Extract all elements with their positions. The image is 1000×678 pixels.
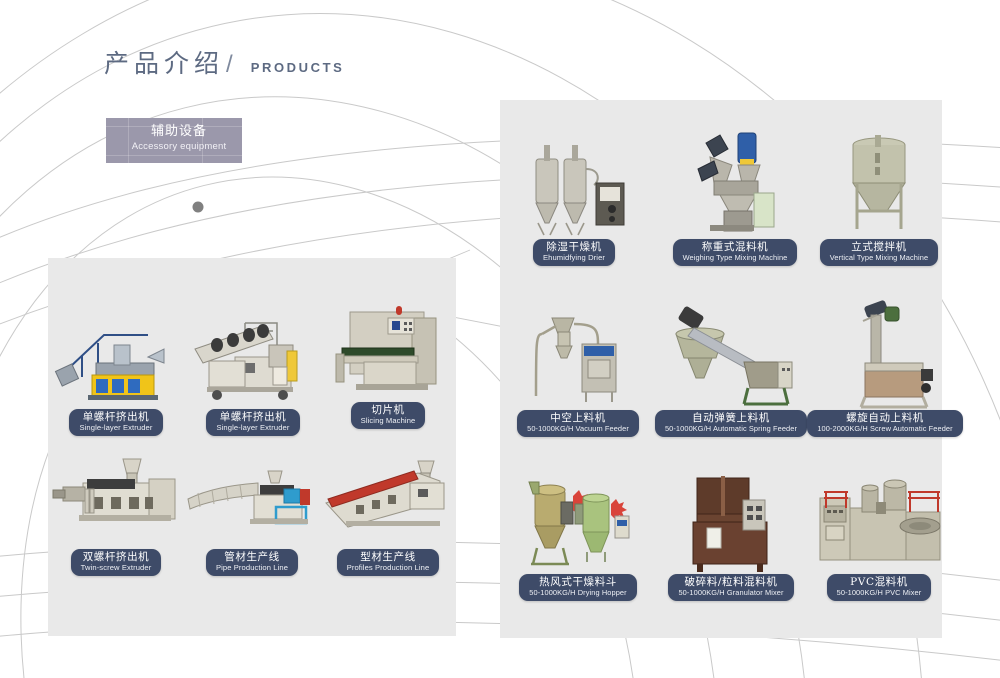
vacuum-feeder-photo bbox=[504, 300, 652, 410]
product-name-en: Profiles Production Line bbox=[347, 564, 430, 572]
product-badge[interactable]: 自动弹簧上料机 50-1000KG/H Automatic Spring Fee… bbox=[655, 410, 807, 437]
product-card-single-layer-extruder-2[interactable]: 单螺杆挤出机 Single-layer Extruder bbox=[185, 305, 321, 436]
page-title-cn: 产品介绍 bbox=[104, 44, 224, 80]
product-badge[interactable]: 型材生产线 Profiles Production Line bbox=[337, 549, 440, 576]
product-badge[interactable]: 单螺杆挤出机 Single-layer Extruder bbox=[69, 409, 162, 436]
product-name-en: 100-2000KG/H Screw Automatic Feeder bbox=[817, 425, 952, 433]
page-title-separator: / bbox=[226, 51, 233, 79]
product-badge[interactable]: 热风式干燥料斗 50-1000KG/H Drying Hopper bbox=[519, 574, 636, 601]
product-name-en: Single-layer Extruder bbox=[79, 424, 152, 432]
product-name-en: Single-layer Extruder bbox=[216, 424, 289, 432]
product-card-pvc-mixer[interactable]: PVC混料机 50-1000KG/H PVC Mixer bbox=[805, 468, 953, 601]
page-title-en: PRODUCTS bbox=[251, 60, 345, 75]
product-badge[interactable]: 除湿干燥机 Ehumidfying Drier bbox=[533, 239, 615, 266]
product-name-en: Vertical Type Mixing Machine bbox=[830, 254, 928, 262]
product-card-slicing-machine[interactable]: 切片机 Slicing Machine bbox=[320, 298, 456, 429]
product-name-en: 50-1000KG/H PVC Mixer bbox=[837, 589, 922, 597]
screw-automatic-feeder-photo bbox=[797, 295, 973, 410]
product-name-en: 50-1000KG/H Granulator Mixer bbox=[678, 589, 783, 597]
product-card-screw-automatic-feeder[interactable]: 螺旋自动上料机 100-2000KG/H Screw Automatic Fee… bbox=[797, 295, 973, 437]
product-badge[interactable]: 管材生产线 Pipe Production Line bbox=[206, 549, 298, 576]
product-name-en: Ehumidfying Drier bbox=[543, 254, 605, 262]
automatic-spring-feeder-photo bbox=[645, 300, 817, 410]
category-label: 辅助设备 Accessory equipment bbox=[123, 123, 235, 154]
product-card-profiles-production-line[interactable]: 型材生产线 Profiles Production Line bbox=[320, 445, 456, 576]
product-card-vacuum-feeder[interactable]: 中空上料机 50-1000KG/H Vacuum Feeder bbox=[504, 300, 652, 437]
category-badge-accessory-equipment[interactable]: 辅助设备 Accessory equipment bbox=[106, 118, 242, 163]
product-badge[interactable]: PVC混料机 50-1000KG/H PVC Mixer bbox=[827, 574, 932, 601]
product-card-pipe-production-line[interactable]: 管材生产线 Pipe Production Line bbox=[184, 445, 320, 576]
dehumidifying-drier-photo bbox=[506, 135, 642, 239]
product-card-vertical-mixing-machine[interactable]: 立式搅拌机 Vertical Type Mixing Machine bbox=[805, 125, 953, 266]
product-badge[interactable]: 中空上料机 50-1000KG/H Vacuum Feeder bbox=[517, 410, 639, 437]
single-layer-extruder-line-photo bbox=[185, 305, 321, 409]
product-card-automatic-spring-feeder[interactable]: 自动弹簧上料机 50-1000KG/H Automatic Spring Fee… bbox=[645, 300, 817, 437]
twin-screw-extruder-photo bbox=[48, 445, 184, 549]
product-name-en: Twin-screw Extruder bbox=[81, 564, 152, 572]
product-card-single-layer-extruder-1[interactable]: 单螺杆挤出机 Single-layer Extruder bbox=[48, 305, 184, 436]
product-card-granulator-mixer[interactable]: 破碎料/粒料混料机 50-1000KG/H Granulator Mixer bbox=[650, 468, 812, 601]
product-name-en: 50-1000KG/H Vacuum Feeder bbox=[527, 425, 629, 433]
page-title: 产品介绍 / PRODUCTS bbox=[104, 44, 344, 80]
product-badge[interactable]: 螺旋自动上料机 100-2000KG/H Screw Automatic Fee… bbox=[807, 410, 962, 437]
product-card-weighing-mixing-machine[interactable]: 称重式混料机 Weighing Type Mixing Machine bbox=[655, 125, 815, 266]
product-card-twin-screw-extruder[interactable]: 双螺杆挤出机 Twin-screw Extruder bbox=[48, 445, 184, 576]
product-name-en: 50-1000KG/H Automatic Spring Feeder bbox=[665, 425, 797, 433]
profiles-production-line-photo bbox=[320, 445, 456, 549]
pipe-production-line-photo bbox=[184, 445, 320, 549]
single-screw-extruder-photo bbox=[48, 305, 184, 409]
slicing-machine-photo bbox=[320, 298, 456, 402]
granulator-mixer-photo bbox=[650, 468, 812, 574]
product-card-dehumidifying-drier[interactable]: 除湿干燥机 Ehumidfying Drier bbox=[506, 135, 642, 266]
product-card-drying-hopper[interactable]: 热风式干燥料斗 50-1000KG/H Drying Hopper bbox=[504, 468, 652, 601]
product-name-en: Pipe Production Line bbox=[216, 564, 288, 572]
product-name-en: Slicing Machine bbox=[361, 417, 416, 425]
product-badge[interactable]: 称重式混料机 Weighing Type Mixing Machine bbox=[673, 239, 798, 266]
category-label-cn: 辅助设备 bbox=[123, 123, 235, 140]
product-badge[interactable]: 双螺杆挤出机 Twin-screw Extruder bbox=[71, 549, 162, 576]
product-badge[interactable]: 立式搅拌机 Vertical Type Mixing Machine bbox=[820, 239, 938, 266]
product-badge[interactable]: 单螺杆挤出机 Single-layer Extruder bbox=[206, 409, 299, 436]
product-name-en: Weighing Type Mixing Machine bbox=[683, 254, 788, 262]
vertical-mixing-machine-photo bbox=[805, 125, 953, 239]
product-name-en: 50-1000KG/H Drying Hopper bbox=[529, 589, 626, 597]
category-label-en: Accessory equipment bbox=[123, 140, 235, 154]
pvc-mixer-photo bbox=[805, 468, 953, 574]
product-badge[interactable]: 破碎料/粒料混料机 50-1000KG/H Granulator Mixer bbox=[668, 574, 793, 601]
category-grid-line bbox=[106, 155, 242, 156]
weighing-mixing-machine-photo bbox=[655, 125, 815, 239]
drying-hopper-photo bbox=[504, 468, 652, 574]
